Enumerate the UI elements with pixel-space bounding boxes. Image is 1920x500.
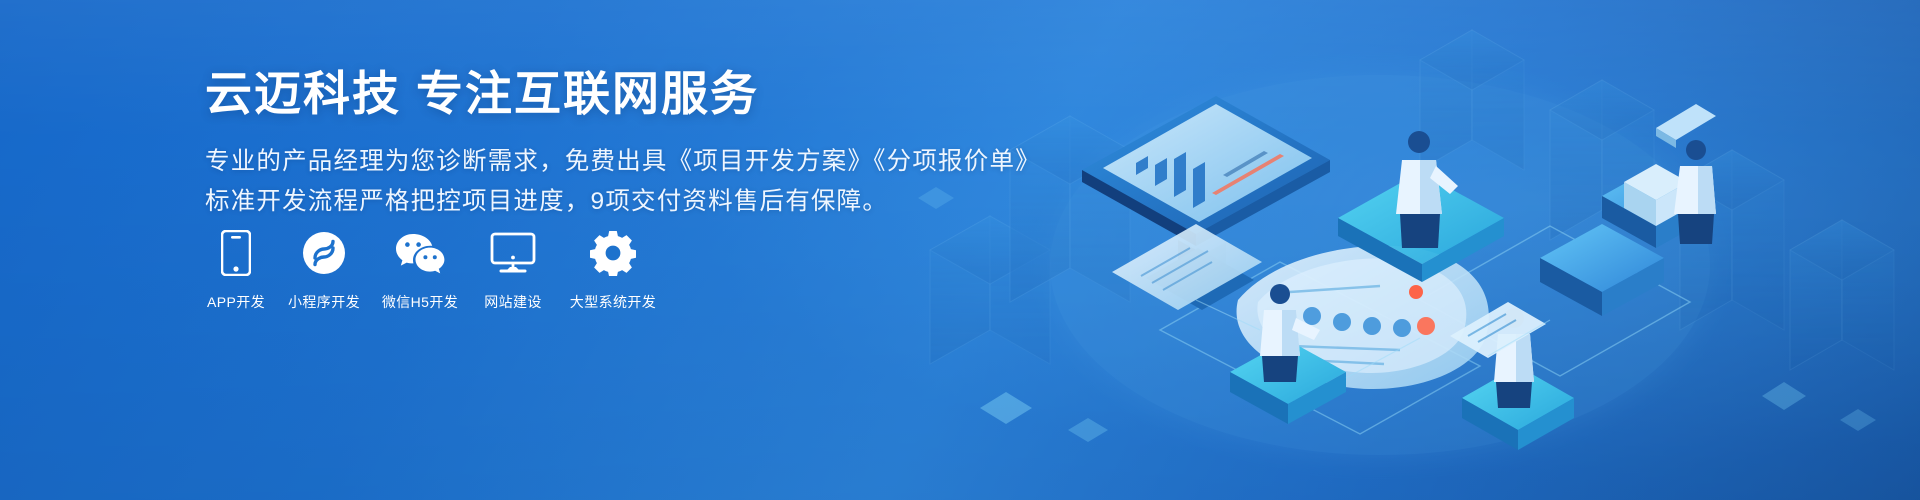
service-item-mini-program[interactable]: 小程序开发 (287, 228, 361, 312)
service-label: 网站建设 (484, 292, 542, 312)
service-label: 微信H5开发 (382, 292, 458, 312)
service-label: APP开发 (207, 292, 265, 312)
mini-program-icon (299, 228, 349, 278)
subtitle-line-2: 标准开发流程严格把控项目进度，9项交付资料售后有保障。 (205, 182, 905, 222)
service-item-large-system[interactable]: 大型系统开发 (567, 228, 659, 312)
service-label: 小程序开发 (288, 292, 360, 312)
hero-banner: 云迈科技 专注互联网服务 专业的产品经理为您诊断需求，免费出具《项目开发方案》《… (0, 0, 1920, 500)
subtitle-line-1: 专业的产品经理为您诊断需求，免费出具《项目开发方案》《分项报价单》 (205, 142, 905, 182)
service-item-wechat-h5[interactable]: 微信H5开发 (381, 228, 459, 312)
service-label: 大型系统开发 (570, 292, 656, 312)
wechat-icon (395, 228, 445, 278)
mobile-phone-icon (211, 228, 261, 278)
service-list: APP开发 小程序开发 (205, 228, 659, 312)
banner-copy: 云迈科技 专注互联网服务 专业的产品经理为您诊断需求，免费出具《项目开发方案》《… (205, 66, 905, 222)
isometric-illustration (860, 0, 1920, 500)
service-item-website[interactable]: 网站建设 (479, 228, 547, 312)
banner-subtitle: 专业的产品经理为您诊断需求，免费出具《项目开发方案》《分项报价单》 标准开发流程… (205, 142, 905, 221)
gear-icon (588, 228, 638, 278)
monitor-icon (488, 228, 538, 278)
page-title: 云迈科技 专注互联网服务 (205, 66, 905, 121)
service-item-app[interactable]: APP开发 (205, 228, 267, 312)
